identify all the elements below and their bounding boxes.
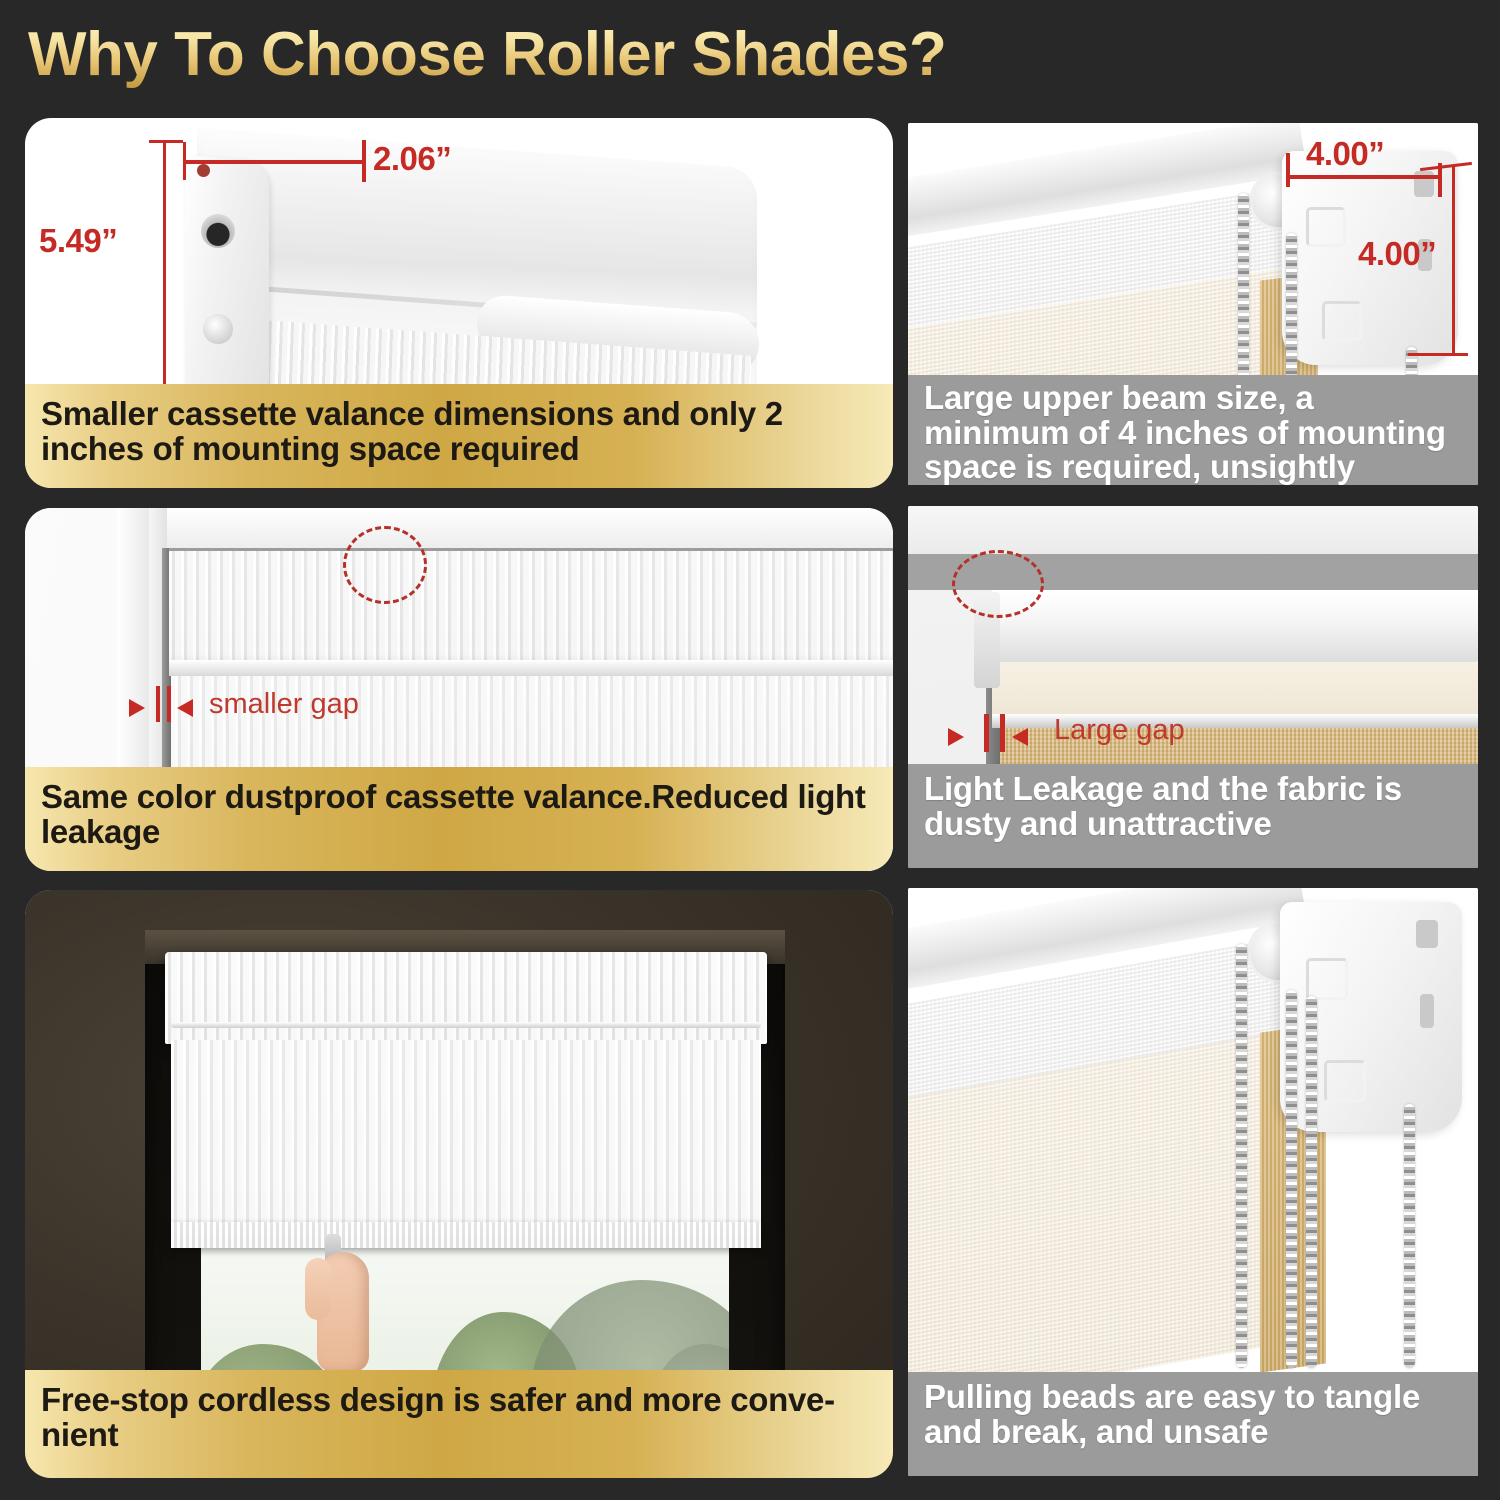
gap-tick-right: [1000, 714, 1005, 752]
gap-callout-label: smaller gap: [209, 688, 359, 721]
dim-tick-top: [149, 140, 183, 143]
dim-label-width: 4.00”: [1306, 135, 1384, 173]
gap-tick-left: [984, 714, 989, 752]
caption-bar-2: Large upper beam size, a minimum of 4 in…: [908, 375, 1478, 485]
cassette-end-bracket: [185, 155, 269, 393]
bracket-notch-top: [1416, 920, 1438, 948]
gap-tick-left: [156, 686, 160, 722]
panel-competitor-beam-size: 4.00” 4.00” Large upper beam size, a min…: [908, 123, 1478, 485]
bracket-emboss-lower: [1324, 1060, 1366, 1102]
bracket-screw-icon: [203, 314, 233, 344]
bracket-emboss-lower: [1322, 301, 1362, 341]
panel-light-leakage: Large gap Light Leakage and the fabric i…: [908, 506, 1478, 868]
gap-arrow-right-icon: [948, 728, 964, 746]
bead-chain-2: [1286, 990, 1297, 1368]
window-frame-head: [149, 508, 893, 548]
bead-chain-3: [1306, 996, 1317, 1368]
bracket-emboss-upper: [1306, 958, 1348, 1000]
cassette-valance: [169, 548, 893, 667]
dim-line-width: [183, 160, 365, 164]
cream-fabric-band: [992, 662, 1478, 718]
dim-label-width: 2.06”: [373, 140, 451, 178]
bracket-notch-mid: [1420, 994, 1434, 1028]
caption-bar-3: Same color dustproof cassette valance.Re…: [25, 767, 893, 871]
panel-cordless-design: Free-stop cordless design is safer and m…: [25, 890, 893, 1478]
valance-lip: [169, 660, 893, 676]
gap-callout-label: Large gap: [1054, 714, 1185, 747]
shade-fabric: [171, 1040, 761, 1240]
bracket-emboss-upper: [1306, 207, 1346, 247]
bottom-rail: [171, 1222, 761, 1248]
caption-bar-5: Free-stop cordless design is safer and m…: [25, 1370, 893, 1478]
panel-dustproof-valance: smaller gap Same color dustproof cassett…: [25, 508, 893, 871]
dim-line-width: [1286, 175, 1442, 179]
caption-bar-1: Smaller cassette valance dimensions and …: [25, 384, 893, 488]
dim-tick-left-h: [1286, 153, 1290, 187]
highlight-ellipse-icon: [952, 550, 1044, 618]
gap-arrow-left-icon: [1012, 728, 1028, 746]
gap-tick-right: [167, 686, 171, 722]
gap-arrow-right-icon: [129, 699, 145, 717]
highlight-ellipse-icon: [343, 526, 427, 604]
dim-tick-bottom: [1408, 353, 1468, 356]
bracket-slot-icon: [201, 214, 235, 248]
dim-label-height: 5.49”: [39, 222, 117, 260]
headrail: [992, 590, 1478, 664]
bead-chain-4: [1404, 1104, 1415, 1368]
cassette-valance: [165, 952, 767, 1044]
gap-arrow-left-icon: [177, 699, 193, 717]
bead-chain-1: [1236, 944, 1247, 1368]
caption-bar-4: Light Leakage and the fabric is dusty an…: [908, 764, 1478, 868]
bracket-top-screw-icon: [197, 164, 210, 177]
shade-fabric-cream: [908, 1031, 1288, 1414]
panel-pulling-beads: Pulling beads are easy to tangle and bre…: [908, 888, 1478, 1476]
caption-bar-6: Pulling beads are easy to tangle and bre…: [908, 1372, 1478, 1476]
dim-label-height: 4.00”: [1358, 235, 1436, 273]
ceiling-band: [908, 506, 1478, 554]
dim-line-height: [1452, 165, 1455, 355]
hand-pulling-shade: [317, 1252, 369, 1372]
page-title: Why To Choose Roller Shades?: [28, 14, 1028, 96]
panel-cassette-dimensions: 2.06” 5.49” Smaller cassette valance dim…: [25, 118, 893, 488]
dim-tick-right: [362, 140, 366, 182]
